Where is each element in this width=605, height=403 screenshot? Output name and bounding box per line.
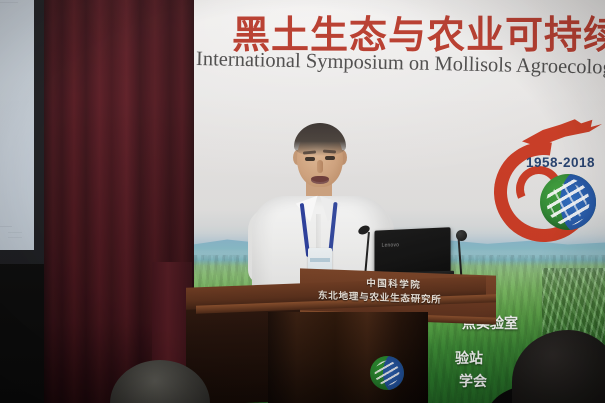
screen-faint-line — [8, 232, 22, 233]
globe-wave-pattern-secondary — [546, 180, 590, 224]
nose — [317, 160, 323, 173]
projection-screen-frame — [0, 0, 48, 264]
eye-right — [325, 156, 335, 160]
organizer-line-5: 验站 — [455, 348, 487, 371]
eye-left — [305, 157, 315, 161]
podium-institution-text: 中国科学院 东北地理与农业生态研究所 — [346, 276, 442, 308]
conference-photo-scene: 黑土生态与农业可持续发 International Symposium on M… — [0, 0, 605, 403]
microphone-icon-right — [456, 230, 467, 241]
anniversary-logo: 1958-2018 — [492, 118, 605, 230]
organizer-text-bottom: 验站 学会 — [455, 348, 487, 394]
screen-faint-line — [0, 2, 18, 3]
podium-body-shading — [268, 312, 428, 403]
laptop-screen: Lenovo — [374, 227, 450, 275]
institute-globe-logo-icon — [370, 356, 404, 390]
name-badge-strip — [310, 258, 330, 262]
screen-faint-line — [8, 237, 22, 238]
screen-faint-line — [0, 226, 12, 227]
laptop-brand-label: Lenovo — [382, 242, 400, 248]
anniversary-years: 1958-2018 — [526, 155, 595, 170]
globe-icon — [540, 174, 596, 230]
mouth — [311, 176, 329, 184]
projection-screen-surface — [0, 0, 34, 250]
swirl-brushstroke-icon — [522, 118, 602, 148]
organizer-line-6: 学会 — [459, 371, 487, 394]
institute-logo-wave-pattern — [373, 359, 401, 387]
